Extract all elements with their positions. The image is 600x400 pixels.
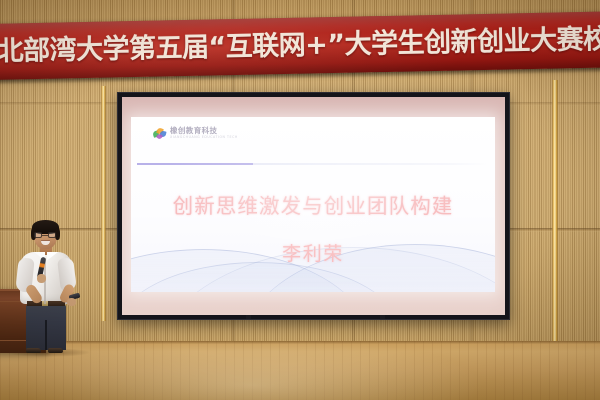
presenter-right-hand [67, 298, 76, 306]
slide-title: 创新思维激发与创业团队构建 [131, 189, 495, 219]
slide-logo-sub-wordmark: XIANGCHUANG EDUCATION TECH [170, 136, 238, 139]
presenter-leg-seam [45, 320, 47, 350]
presenter-mouth [41, 241, 50, 245]
presenter-left-shoe [26, 348, 41, 353]
presenter [8, 222, 86, 352]
presenter-left-hand [37, 274, 46, 283]
slide-logo-wordmark: 橡创教育科技 [170, 127, 238, 135]
slide-accent-rule [137, 163, 489, 165]
screen-mount-bracket [380, 315, 385, 320]
projection-screen-surface: 橡创教育科技 XIANGCHUANG EDUCATION TECH 创新思维激发… [122, 97, 505, 315]
stage-floor-sheen [0, 341, 600, 400]
photo-scene: 橡创教育科技 XIANGCHUANG EDUCATION TECH 创新思维激发… [0, 0, 600, 400]
slide-logo-text-block: 橡创教育科技 XIANGCHUANG EDUCATION TECH [170, 127, 238, 139]
glasses-icon [34, 232, 56, 238]
colorful-leaf-logo-mark-icon [153, 127, 166, 140]
projection-screen: 橡创教育科技 XIANGCHUANG EDUCATION TECH 创新思维激发… [117, 92, 510, 320]
slide-author-name: 李利荣 [131, 239, 495, 266]
slide-logo: 橡创教育科技 XIANGCHUANG EDUCATION TECH [153, 127, 238, 140]
stage-floor-edge [0, 341, 600, 344]
presenter-right-shoe [48, 348, 63, 353]
screen-mount-bracket [246, 315, 251, 320]
projected-slide: 橡创教育科技 XIANGCHUANG EDUCATION TECH 创新思维激发… [131, 117, 495, 292]
